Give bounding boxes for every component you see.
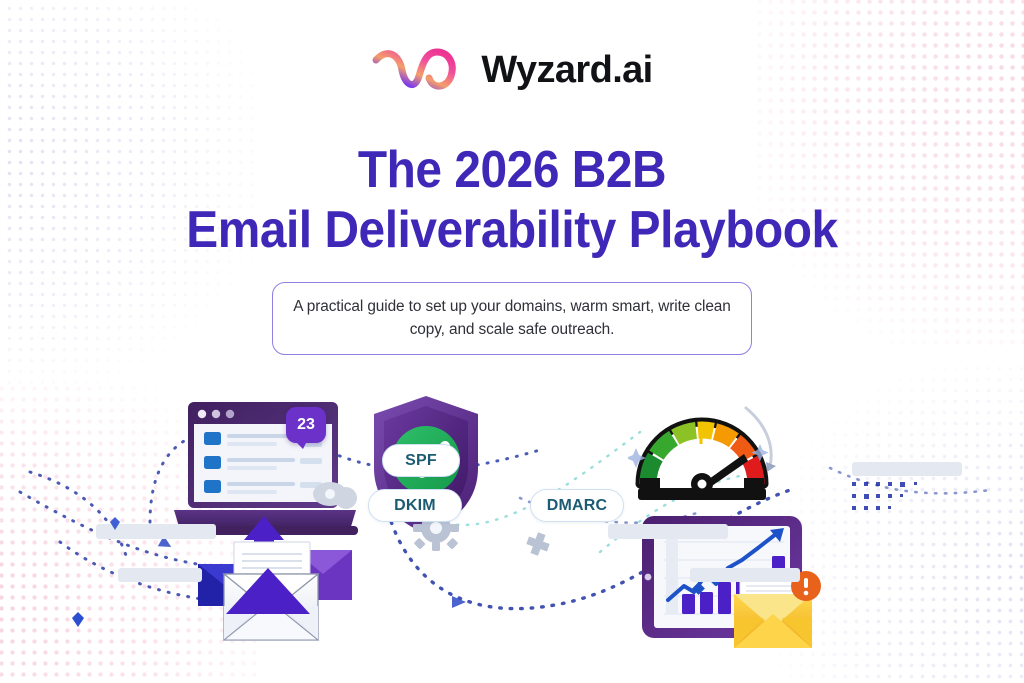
subtitle-text: A practical guide to set up your domains… — [293, 295, 731, 341]
wyzard-wave-logo-icon — [371, 44, 467, 96]
title-line-1: The 2026 B2B — [41, 140, 983, 200]
pill-dkim-label: DKIM — [394, 497, 436, 515]
hero-illustration — [0, 372, 1024, 683]
subtitle-box: A practical guide to set up your domains… — [272, 282, 752, 355]
pill-dkim[interactable]: DKIM — [368, 489, 462, 522]
decorative-shapes — [0, 372, 1024, 683]
unread-count-badge: 23 — [286, 407, 326, 443]
title-line-2: Email Deliverability Playbook — [41, 200, 983, 260]
pill-dmarc-label: DMARC — [547, 497, 608, 515]
pill-spf[interactable]: SPF — [382, 444, 460, 477]
brand-name: Wyzard.ai — [481, 51, 652, 89]
pill-spf-label: SPF — [405, 452, 437, 470]
poster-canvas: Wyzard.ai The 2026 B2B Email Deliverabil… — [0, 0, 1024, 683]
brand-logo: Wyzard.ai — [0, 44, 1024, 96]
pill-dmarc[interactable]: DMARC — [530, 489, 624, 522]
page-title: The 2026 B2B Email Deliverability Playbo… — [0, 140, 1024, 261]
unread-count-value: 23 — [297, 416, 315, 434]
